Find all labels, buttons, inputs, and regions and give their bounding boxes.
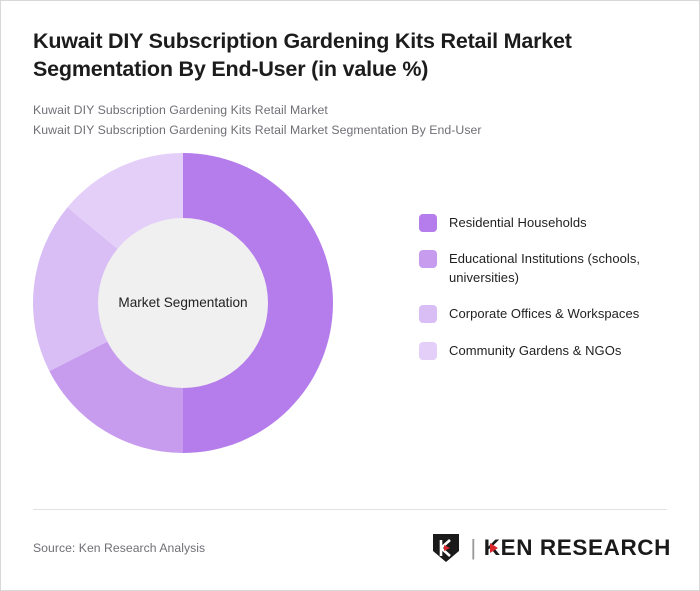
footer-divider bbox=[33, 509, 667, 510]
legend-item[interactable]: Corporate Offices & Workspaces bbox=[419, 304, 681, 323]
legend-item[interactable]: Residential Households bbox=[419, 213, 681, 232]
legend-item[interactable]: Community Gardens & NGOs bbox=[419, 341, 681, 360]
donut-hole bbox=[98, 218, 268, 388]
legend-label: Corporate Offices & Workspaces bbox=[449, 304, 639, 323]
legend-label: Residential Households bbox=[449, 213, 587, 232]
chart-page: Kuwait DIY Subscription Gardening Kits R… bbox=[0, 0, 700, 591]
ken-research-logo: | KEN RESEARCH bbox=[431, 532, 671, 564]
legend-swatch-icon bbox=[419, 250, 437, 268]
subtitle-group: Kuwait DIY Subscription Gardening Kits R… bbox=[33, 101, 667, 141]
logo-wordmark: | KEN RESEARCH bbox=[470, 537, 671, 560]
legend-item[interactable]: Educational Institutions (schools, unive… bbox=[419, 249, 681, 287]
logo-text: KEN RESEARCH bbox=[484, 537, 671, 560]
shield-icon bbox=[431, 532, 461, 564]
subtitle-secondary: Kuwait DIY Subscription Gardening Kits R… bbox=[33, 121, 667, 141]
legend-swatch-icon bbox=[419, 305, 437, 323]
legend-swatch-icon bbox=[419, 214, 437, 232]
legend-swatch-icon bbox=[419, 342, 437, 360]
chart-legend: Residential HouseholdsEducational Instit… bbox=[419, 213, 681, 377]
page-title: Kuwait DIY Subscription Gardening Kits R… bbox=[33, 27, 667, 84]
legend-label: Educational Institutions (schools, unive… bbox=[449, 249, 681, 287]
source-note: Source: Ken Research Analysis bbox=[33, 541, 205, 555]
chart-footer: Source: Ken Research Analysis | KEN RESE… bbox=[33, 531, 671, 565]
chart-header: Kuwait DIY Subscription Gardening Kits R… bbox=[1, 1, 699, 141]
donut-svg bbox=[33, 153, 333, 453]
subtitle-primary: Kuwait DIY Subscription Gardening Kits R… bbox=[33, 101, 667, 121]
donut-chart: Market Segmentation bbox=[33, 153, 333, 453]
chart-body: Market Segmentation Residential Househol… bbox=[1, 153, 699, 483]
legend-label: Community Gardens & NGOs bbox=[449, 341, 621, 360]
